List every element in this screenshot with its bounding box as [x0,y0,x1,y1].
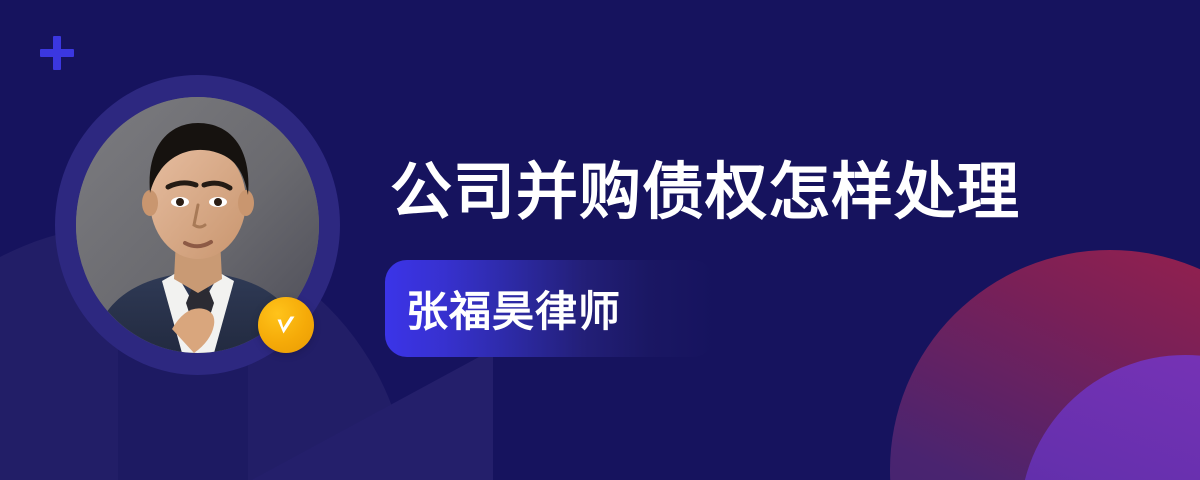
verified-check-icon [258,297,314,353]
author-name: 张福昊律师 [406,278,621,339]
page-title: 公司并购债权怎样处理 [390,158,1020,227]
author-badge: 张福昊律师 [385,260,715,357]
plus-icon [40,36,74,70]
avatar [55,75,340,375]
lawyer-banner: 公司并购债权怎样处理 张福昊律师 [0,0,1200,480]
